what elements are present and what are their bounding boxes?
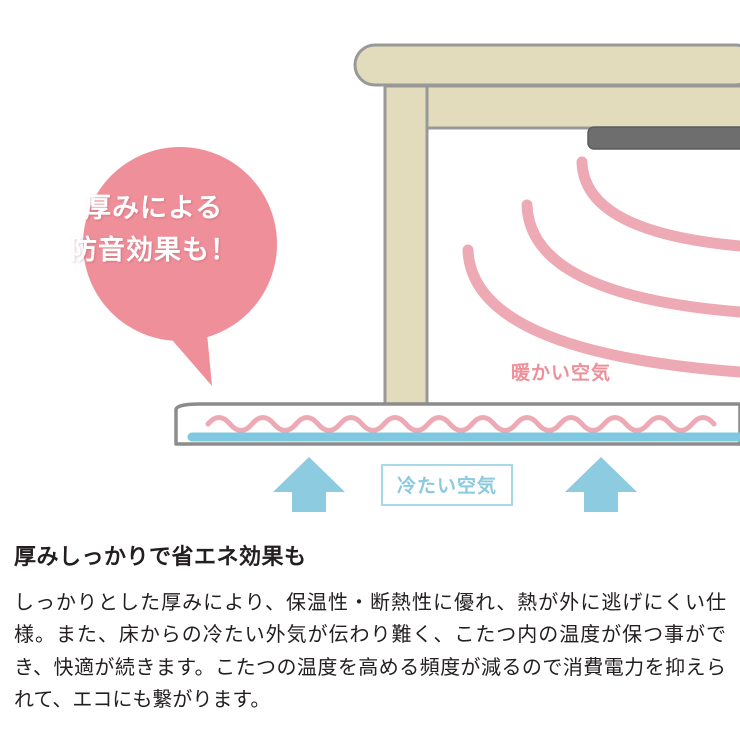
section-heading: 厚みしっかりで省エネ効果も bbox=[14, 542, 726, 573]
table-apron bbox=[385, 86, 740, 128]
warm-air-arc-1 bbox=[582, 162, 740, 246]
warm-air-label: 暖かい空気 bbox=[511, 358, 611, 385]
cold-air-label: 冷たい空気 bbox=[397, 476, 497, 497]
cold-air-arrow-right bbox=[565, 457, 637, 512]
table-leg bbox=[385, 86, 427, 406]
speech-bubble bbox=[83, 147, 277, 386]
table-top bbox=[355, 45, 740, 85]
description-section: 厚みしっかりで省エネ効果も しっかりとした厚みにより、保温性・断熱性に優れ、熱が… bbox=[0, 520, 740, 716]
cold-air-arrow-left bbox=[273, 457, 345, 512]
cold-air-label-box: 冷たい空気 bbox=[381, 464, 513, 506]
kotatsu-illustration bbox=[0, 0, 740, 520]
warm-air-arcs bbox=[468, 162, 740, 372]
section-paragraph: しっかりとした厚みにより、保温性・断熱性に優れ、熱が外に逃げにくい仕様。また、床… bbox=[14, 587, 726, 717]
heater-unit bbox=[588, 127, 740, 149]
